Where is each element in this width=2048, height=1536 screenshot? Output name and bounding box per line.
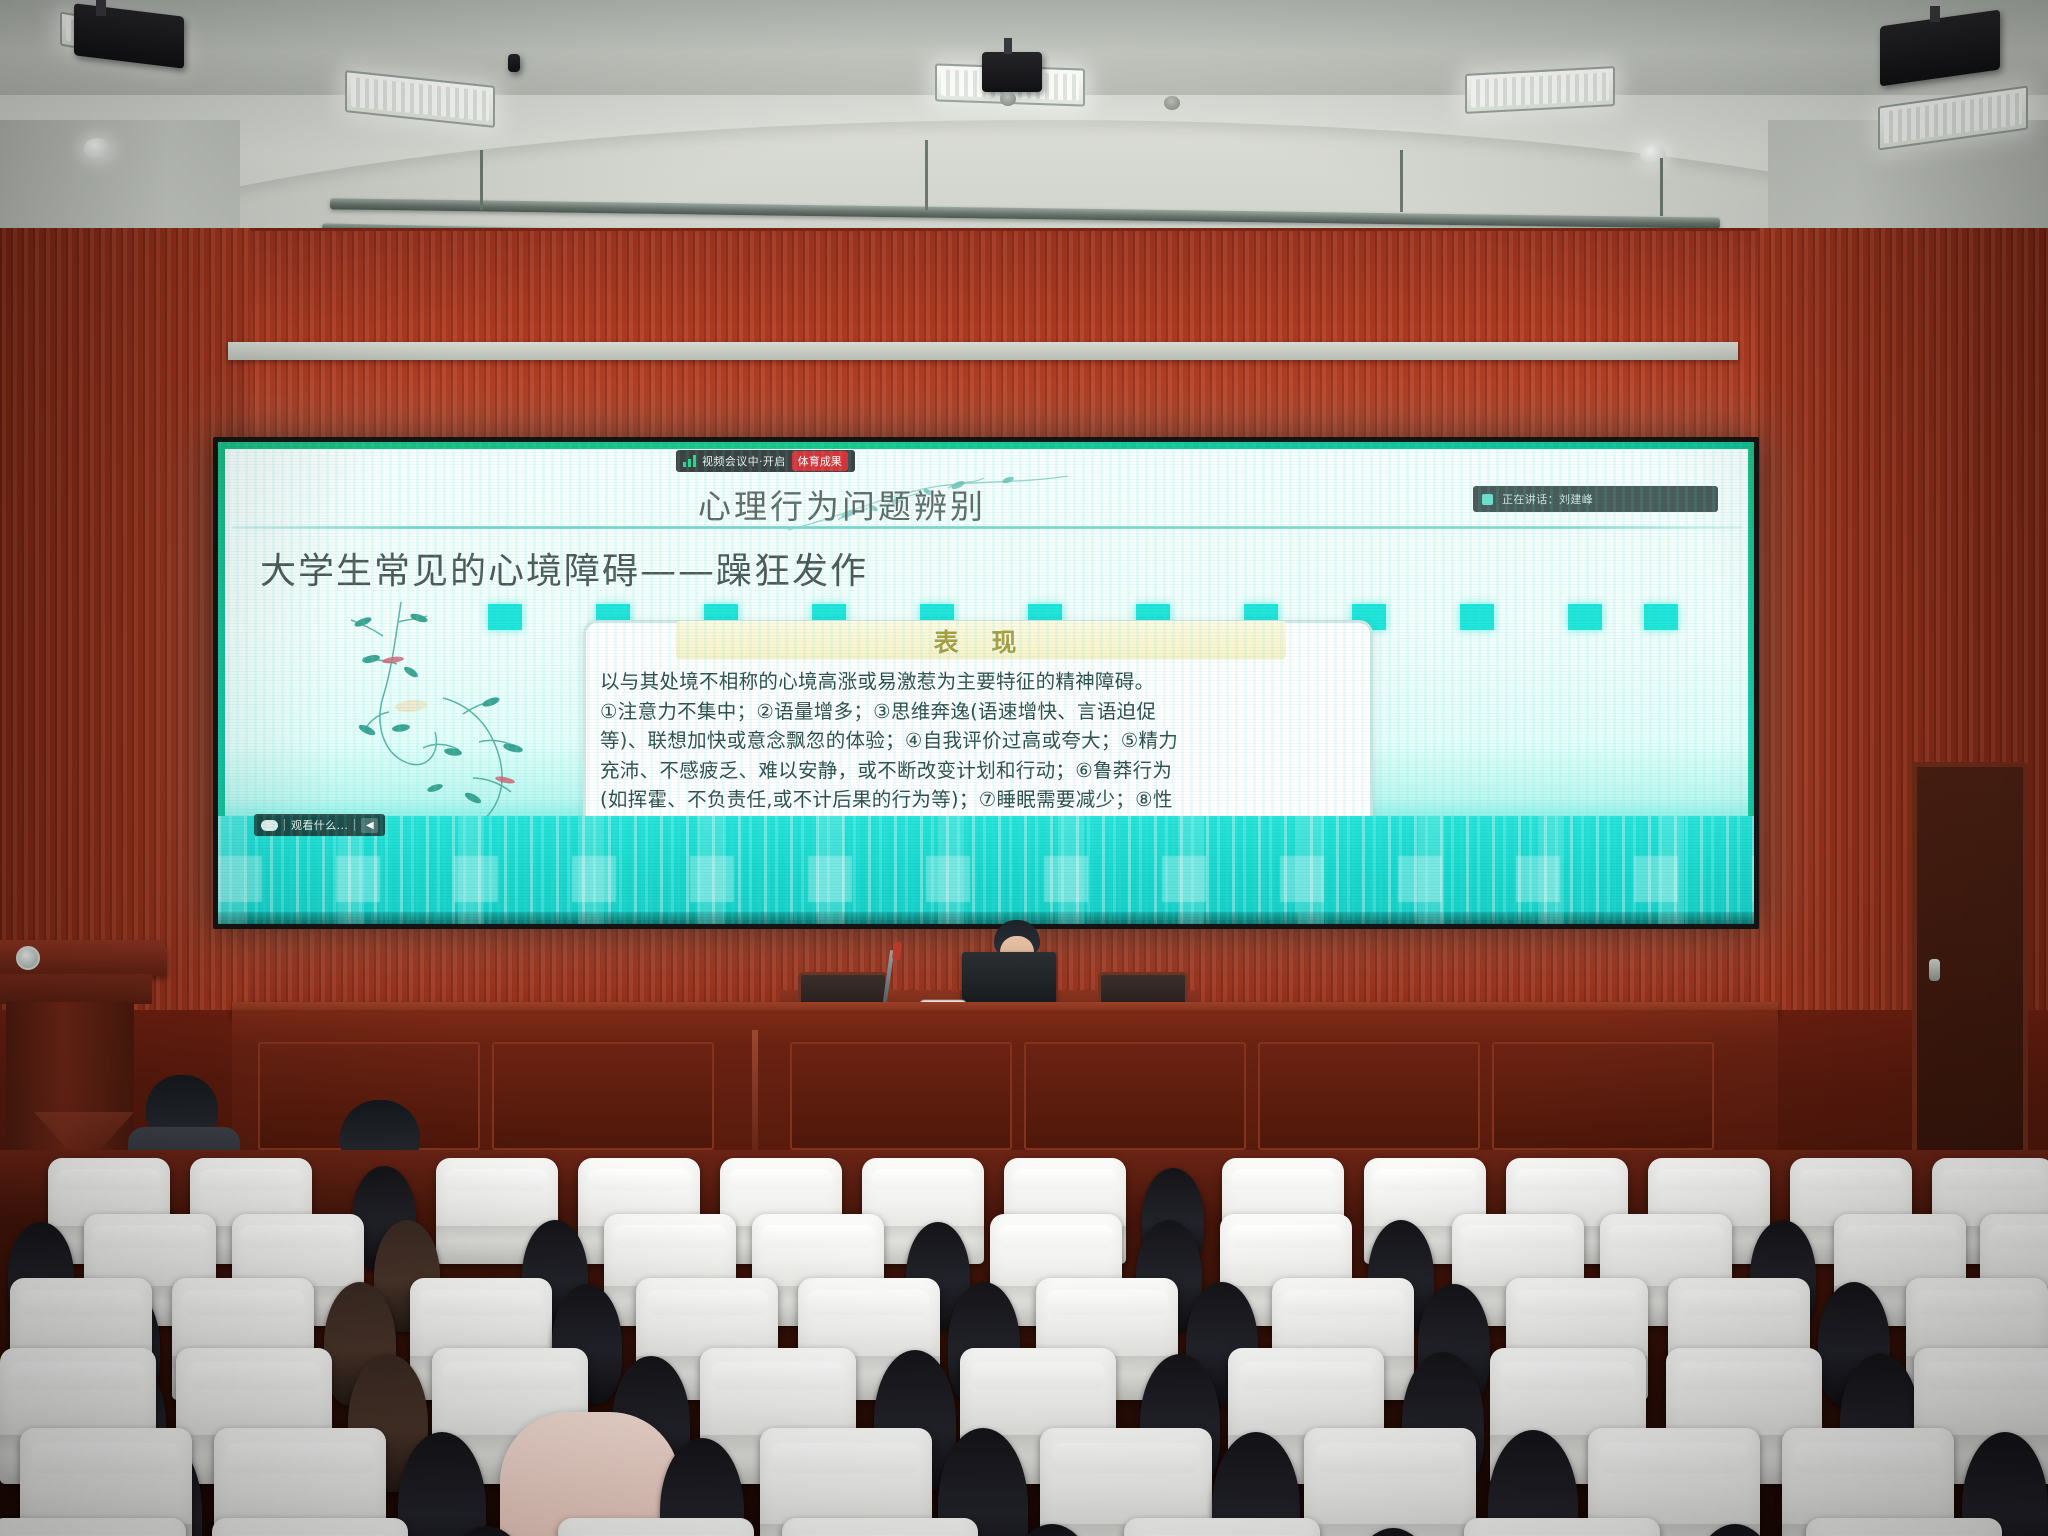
stream-status-overlay[interactable]: 视频会议中·开启 体育成果 — [676, 450, 855, 472]
body-line: 充沛、不感疲乏、难以安静，或不断改变计划和行动；⑥鲁莽行为 — [600, 756, 1360, 786]
podium-neck — [0, 974, 152, 1004]
head-table-panel — [790, 1042, 1012, 1150]
slide-title-divider — [232, 526, 1742, 529]
audience-seat[interactable] — [1304, 1428, 1476, 1536]
record-icon[interactable] — [261, 820, 278, 831]
rig-drop-wire — [1660, 158, 1663, 216]
ceiling-panel-light — [1465, 66, 1615, 114]
audience-seat[interactable] — [558, 1518, 754, 1536]
audience-seat[interactable] — [782, 1518, 978, 1536]
signal-bars-icon — [683, 455, 696, 467]
active-speaker-label: 正在讲话：刘建峰 — [1502, 491, 1593, 507]
led-bottom-noise-band — [218, 816, 1754, 924]
speaker-icon — [1482, 494, 1493, 505]
audience-seat[interactable] — [1806, 1518, 2002, 1536]
door-handle-icon[interactable] — [1929, 959, 1940, 981]
wall-trim-band — [228, 342, 1738, 360]
audience-seat[interactable] — [1464, 1518, 1660, 1536]
audience-seat[interactable] — [212, 1518, 408, 1536]
head-table-panel — [1258, 1042, 1480, 1150]
card-header-band: 表 现 — [676, 621, 1286, 659]
playback-label: 观看什么... — [291, 817, 348, 833]
head-table-panel — [1492, 1042, 1714, 1150]
audience-seat[interactable] — [0, 1518, 186, 1536]
sprinkler-head — [1000, 92, 1016, 106]
led-screen[interactable]: 心理行为问题辨别 大学生常见的心境障碍——躁狂发作 — [218, 442, 1754, 924]
divider — [284, 819, 285, 831]
head-table-panel — [492, 1042, 714, 1150]
head-table-panel — [1024, 1042, 1246, 1150]
body-line: (如挥霍、不负责任,或不计后果的行为等)；⑦睡眠需要减少；⑧性 — [600, 785, 1360, 815]
card-header-text: 表 现 — [676, 623, 1286, 659]
active-speaker-overlay[interactable]: 正在讲话：刘建峰 — [1473, 486, 1718, 512]
rig-drop-wire — [1400, 150, 1403, 212]
speaker-bracket — [1004, 38, 1012, 54]
slide-subtitle: 大学生常见的心境障碍——躁狂发作 — [260, 542, 868, 594]
lecture-hall-scene: 心理行为问题辨别 大学生常见的心境障碍——躁狂发作 — [0, 0, 2048, 1536]
vine-branch-icon — [323, 602, 573, 832]
divider — [354, 819, 355, 831]
sprinkler-head — [1164, 96, 1180, 110]
body-line: 以与其处境不相称的心境高涨或易激惹为主要特征的精神障碍。 — [600, 667, 1360, 697]
ceiling-speaker — [982, 52, 1042, 92]
stream-badge: 体育成果 — [792, 451, 848, 471]
body-line: ①注意力不集中；②语量增多；③思维奔逸(语速增快、言语迫促 — [600, 697, 1360, 727]
speaker-bracket — [96, 0, 106, 16]
rig-drop-wire — [480, 150, 483, 210]
led-screen-frame: 心理行为问题辨别 大学生常见的心境障碍——躁狂发作 — [213, 437, 1759, 929]
podium-top — [0, 940, 167, 976]
university-emblem-icon — [16, 946, 40, 970]
chevron-left-icon[interactable]: ◀ — [361, 818, 378, 833]
audience-seating-area — [0, 1150, 2048, 1536]
slide-top-accent-bar — [218, 442, 1754, 449]
ceiling-dome-light — [84, 138, 110, 158]
speaker-bracket — [1930, 6, 1940, 22]
ceiling-speaker — [508, 54, 520, 72]
attendee-hair — [146, 1075, 218, 1131]
audience-seat[interactable] — [1124, 1518, 1320, 1536]
exit-door[interactable] — [1912, 762, 2028, 1202]
slide-title: 心理行为问题辨别 — [698, 480, 986, 528]
stream-status-label: 视频会议中·开启 — [702, 453, 786, 469]
playback-control-overlay[interactable]: 观看什么... ◀ — [254, 814, 385, 836]
led-noise-row — [218, 856, 1754, 902]
rig-drop-wire — [925, 140, 928, 210]
body-line: 等)、联想加快或意念飘忽的体验；④自我评价过高或夸大；⑤精力 — [600, 726, 1360, 756]
